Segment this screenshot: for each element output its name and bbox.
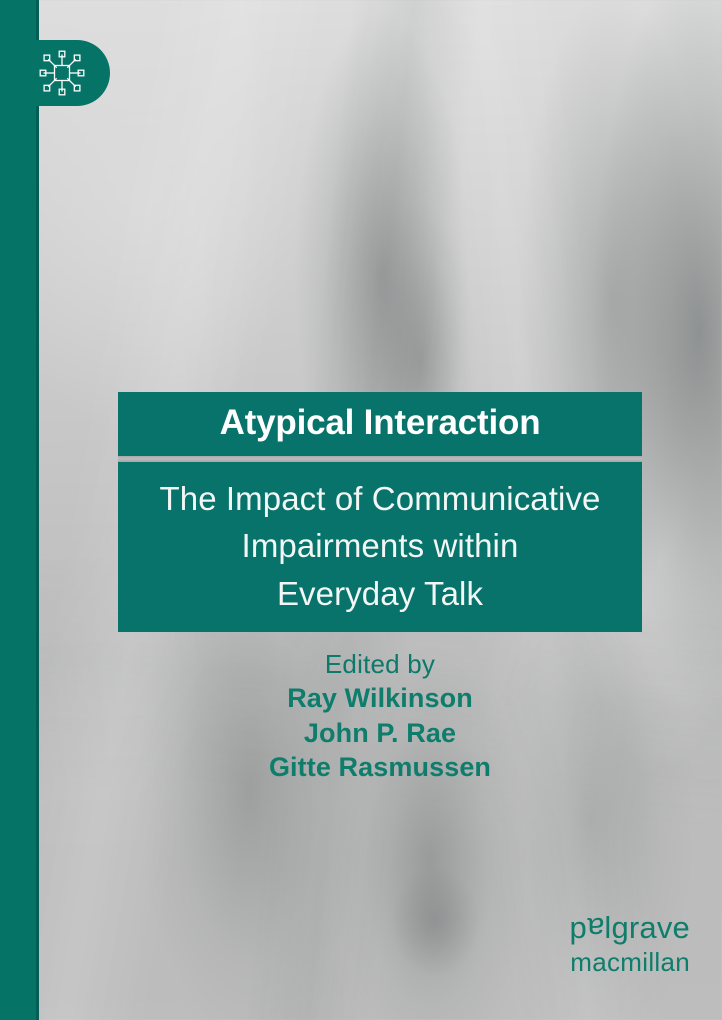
title-box: Atypical Interaction: [118, 392, 642, 456]
subtitle-line-2: Impairments within: [159, 522, 600, 570]
book-cover: Atypical Interaction The Impact of Commu…: [0, 0, 722, 1020]
publisher-name-macmillan: macmillan: [569, 947, 690, 978]
editor-name-3: Gitte Rasmussen: [118, 750, 642, 785]
publisher-logo-badge: [0, 40, 110, 106]
publisher-palgrave-rotated-a: a: [587, 912, 604, 944]
subtitle-line-3: Everyday Talk: [159, 570, 600, 618]
editors-block: Edited by Ray Wilkinson John P. Rae Gitt…: [118, 648, 642, 785]
subtitle-line-1: The Impact of Communicative: [159, 475, 600, 523]
subtitle-box: The Impact of Communicative Impairments …: [118, 462, 642, 632]
title-panel: Atypical Interaction The Impact of Commu…: [118, 392, 642, 632]
publisher-name-palgrave: palgrave: [569, 912, 690, 944]
cover-spine-edge: [36, 0, 39, 1020]
publisher-palgrave-post: lgrave: [604, 910, 690, 945]
cover-spine: [0, 0, 36, 1020]
edited-by-label: Edited by: [118, 648, 642, 681]
editor-name-2: John P. Rae: [118, 716, 642, 751]
palgrave-star-icon: [36, 47, 88, 99]
publisher-palgrave-pre: p: [569, 910, 586, 945]
book-subtitle: The Impact of Communicative Impairments …: [159, 475, 600, 618]
editor-name-1: Ray Wilkinson: [118, 681, 642, 716]
publisher-wordmark: palgrave macmillan: [569, 912, 690, 978]
book-title: Atypical Interaction: [220, 405, 541, 442]
